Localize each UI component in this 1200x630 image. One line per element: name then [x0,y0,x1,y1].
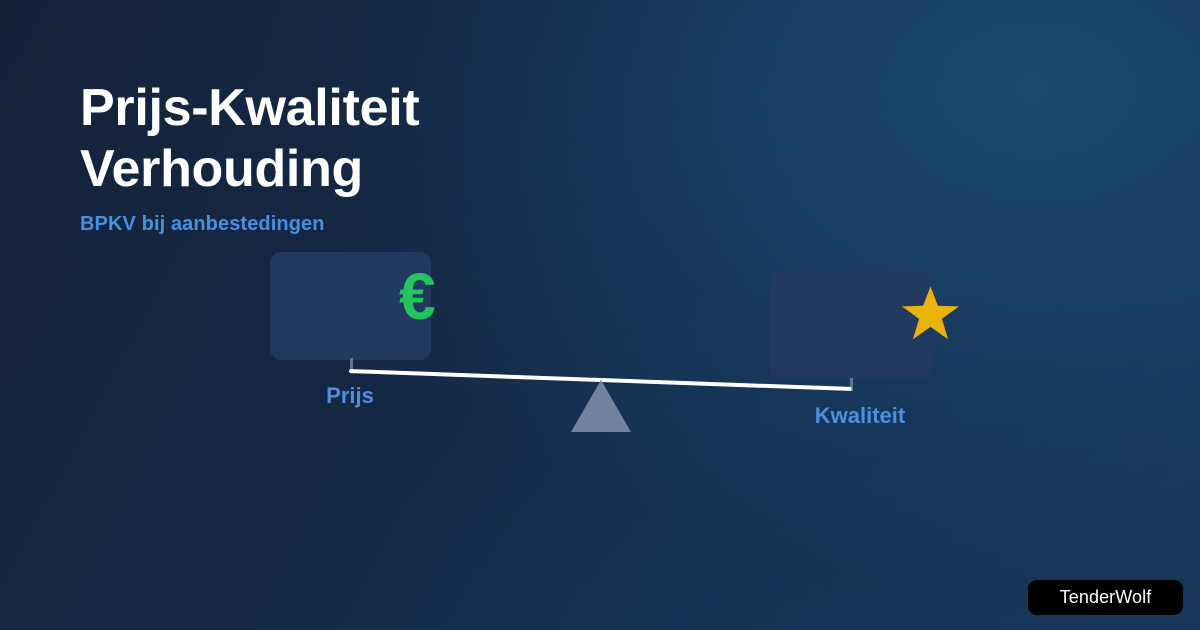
star-icon [902,286,959,341]
triangle-fulcrum-icon [571,380,631,432]
scale-label-quality: Kwaliteit [760,403,960,429]
scale-label-price: Prijs [250,383,450,409]
infographic-canvas: Prijs-Kwaliteit Verhouding BPKV bij aanb… [0,0,1200,630]
watermark-badge: TenderWolf [1028,580,1183,615]
balance-scale-graphic: € Prijs Kwaliteit [0,0,1200,630]
euro-icon: € [399,263,436,329]
